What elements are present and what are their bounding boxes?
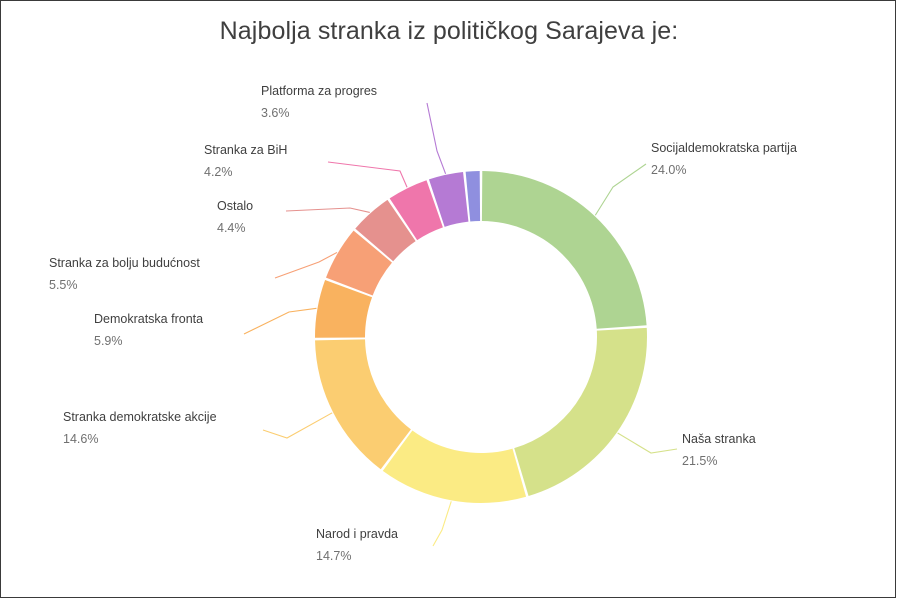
leader-line	[427, 103, 446, 174]
slice-label-percent: 14.6%	[63, 433, 217, 446]
leader-line	[244, 308, 316, 334]
leader-line	[263, 413, 332, 438]
slice-label-name: Ostalo	[217, 200, 253, 213]
donut-chart-svg	[1, 1, 896, 598]
donut-slice[interactable]	[466, 171, 480, 221]
slice-label-name: Stranka demokratske akcije	[63, 411, 217, 424]
leader-line	[286, 208, 370, 212]
slice-label-percent: 21.5%	[682, 455, 756, 468]
slice-label-percent: 3.6%	[261, 107, 377, 120]
slice-label-narod-i-pravda: Narod i pravda 14.7%	[316, 528, 398, 562]
slice-label-percent: 14.7%	[316, 550, 398, 563]
slice-label-percent: 5.5%	[49, 279, 200, 292]
leader-line	[433, 501, 451, 546]
slice-label-ostalo: Ostalo 4.4%	[217, 200, 253, 234]
leader-line	[595, 164, 646, 215]
slice-label-name: Demokratska fronta	[94, 313, 203, 326]
slice-label-percent: 4.4%	[217, 222, 253, 235]
leader-line	[618, 433, 677, 453]
slice-label-name: Stranka za bolju budućnost	[49, 257, 200, 270]
donut-slice[interactable]	[383, 431, 526, 503]
slice-label-name: Stranka za BiH	[204, 144, 287, 157]
slice-label-stranka-za-bih: Stranka za BiH 4.2%	[204, 144, 287, 178]
slice-label-percent: 4.2%	[204, 166, 287, 179]
slice-label-socijaldemokratska-partija: Socijaldemokratska partija 24.0%	[651, 142, 797, 176]
slice-label-name: Socijaldemokratska partija	[651, 142, 797, 155]
donut-slice[interactable]	[482, 171, 647, 329]
slice-label-platforma-za-progres: Platforma za progres 3.6%	[261, 85, 377, 119]
chart-container: Najbolja stranka iz političkog Sarajeva …	[0, 0, 896, 598]
slice-label-nasa-stranka: Naša stranka 21.5%	[682, 433, 756, 467]
slice-label-percent: 24.0%	[651, 164, 797, 177]
donut-slice[interactable]	[514, 328, 647, 496]
slice-label-stranka-demokratske-akcije: Stranka demokratske akcije 14.6%	[63, 411, 217, 445]
slice-label-demokratska-fronta: Demokratska fronta 5.9%	[94, 313, 203, 347]
donut-slice[interactable]	[315, 339, 411, 469]
slice-label-name: Naša stranka	[682, 433, 756, 446]
donut-slices	[315, 171, 647, 503]
slice-label-stranka-za-bolju-buducnost: Stranka za bolju budućnost 5.5%	[49, 257, 200, 291]
slice-label-name: Platforma za progres	[261, 85, 377, 98]
slice-label-name: Narod i pravda	[316, 528, 398, 541]
leader-line	[328, 162, 407, 187]
slice-label-percent: 5.9%	[94, 335, 203, 348]
